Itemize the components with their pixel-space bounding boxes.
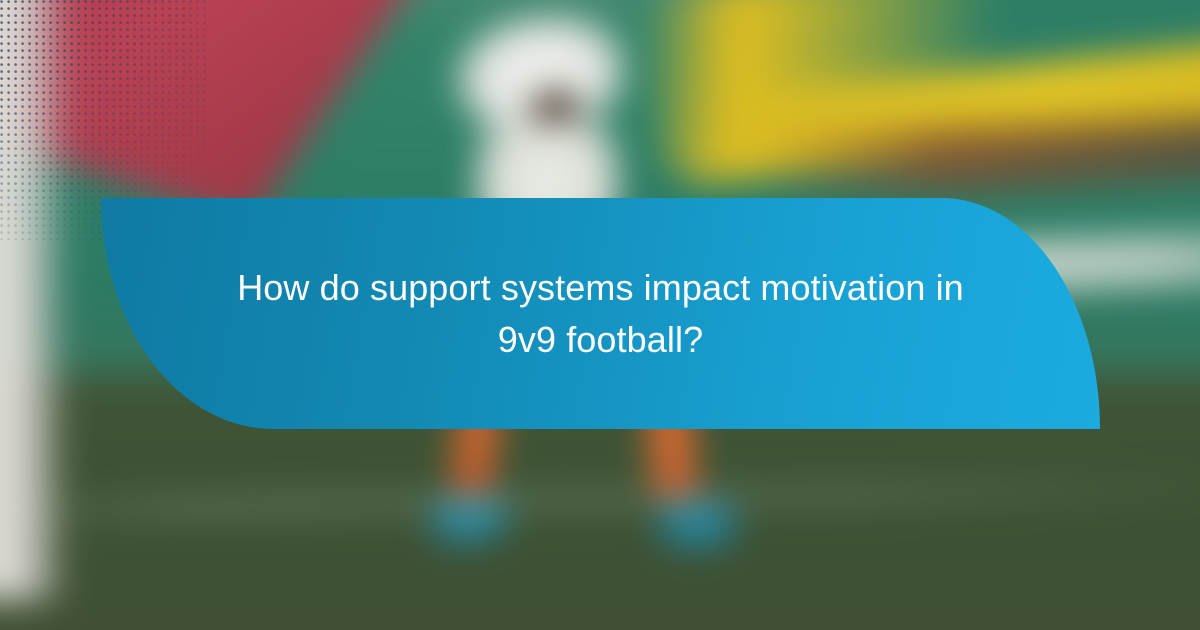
goal-post: [0, 0, 65, 600]
title-banner: How do support systems impact motivation…: [101, 198, 1100, 429]
social-share-card: How do support systems impact motivation…: [0, 0, 1200, 630]
page-title: How do support systems impact motivation…: [221, 262, 981, 364]
